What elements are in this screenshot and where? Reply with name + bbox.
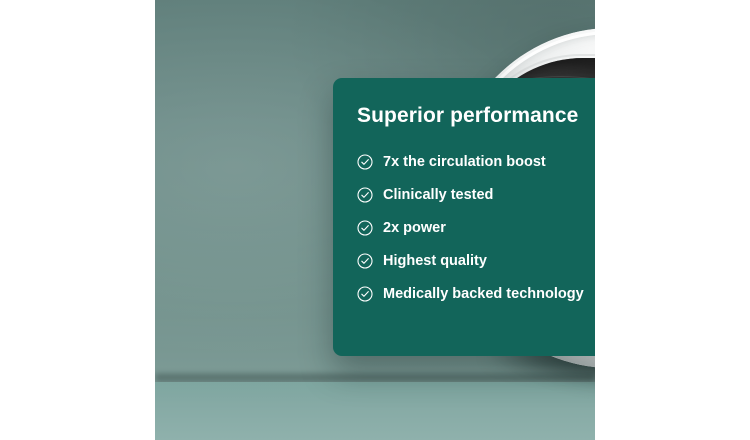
list-item-label: 7x the circulation boost — [383, 154, 546, 170]
list-item-label: 2x power — [383, 220, 446, 236]
list-item-label: Medically backed technology — [383, 286, 584, 302]
feature-list: 7x the circulation boost Clinically test… — [357, 154, 595, 302]
list-item: 7x the circulation boost — [357, 154, 595, 170]
list-item: Highest quality — [357, 253, 595, 269]
screenshot-root: REVITIVE 70 30 — [0, 0, 750, 440]
feature-card: Superior performance 7x the circulation … — [333, 78, 595, 356]
list-item-label: Clinically tested — [383, 187, 493, 203]
check-circle-icon — [357, 220, 373, 236]
list-item: 2x power — [357, 220, 595, 236]
product-image: REVITIVE 70 30 — [155, 0, 595, 440]
list-item-label: Highest quality — [383, 253, 487, 269]
list-item: Medically backed technology — [357, 286, 595, 302]
floor-surface — [155, 382, 595, 440]
check-circle-icon — [357, 286, 373, 302]
check-circle-icon — [357, 187, 373, 203]
page-title: Superior performance — [357, 104, 595, 128]
check-circle-icon — [357, 154, 373, 170]
list-item: Clinically tested — [357, 187, 595, 203]
check-circle-icon — [357, 253, 373, 269]
